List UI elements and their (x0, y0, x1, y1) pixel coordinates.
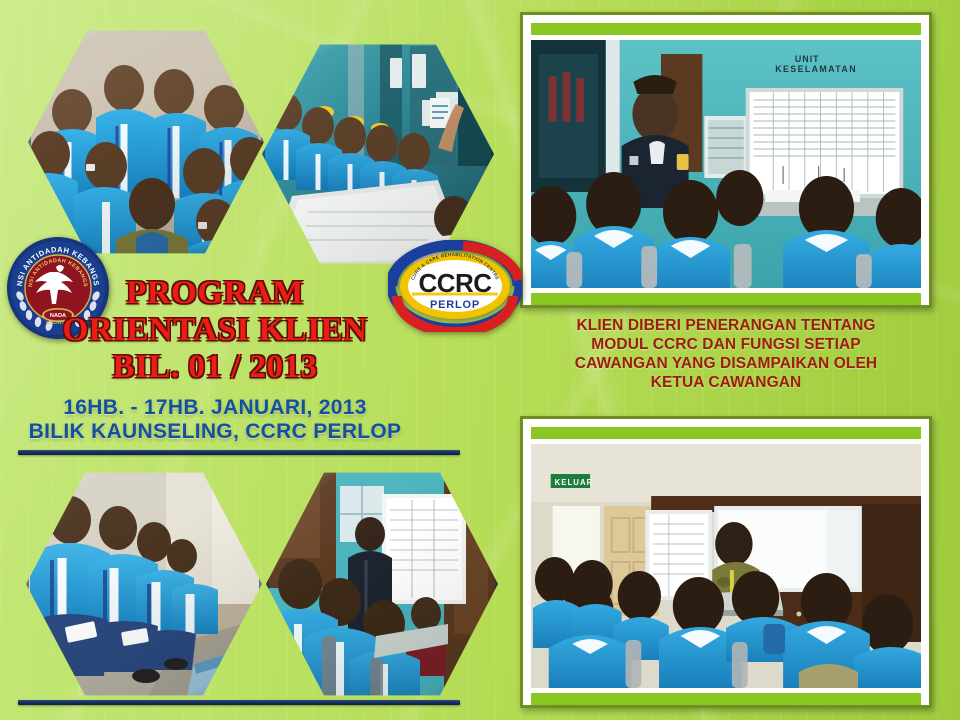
slide-canvas: UNIT KESELAMATAN (0, 0, 960, 720)
svg-text:UNIT: UNIT (795, 54, 820, 64)
photo-framed-officer-presenting[interactable]: UNIT KESELAMATAN (520, 12, 932, 308)
photo-hex-clients-seated-row-image (26, 468, 262, 700)
photo-framed-officer-presenting-image: UNIT KESELAMATAN (531, 40, 921, 288)
divider-lower (18, 700, 460, 705)
photo-hex-counselling-room[interactable] (266, 468, 498, 700)
caption-line-2: MODUL CCRC DAN FUNGSI SETIAP (520, 335, 932, 354)
frame-bottom-bar-1 (531, 293, 921, 305)
ccrc-sub-text: PERLOP (430, 299, 480, 311)
divider-upper (18, 450, 460, 455)
svg-text:KELUAR: KELUAR (555, 478, 594, 487)
frame-top-bar-2 (531, 427, 921, 439)
right-caption-block: KLIEN DIBERI PENERANGAN TENTANG MODUL CC… (520, 316, 932, 392)
photo-hex-group-uniform[interactable] (28, 26, 264, 258)
photo-hex-briefing-whiteboard[interactable] (262, 40, 494, 268)
caption-line-4: KETUA CAWANGAN (520, 373, 932, 392)
frame-bottom-bar-2 (531, 693, 921, 705)
photo-hex-group-uniform-image (28, 26, 264, 258)
program-date-line: 16HB. - 17HB. JANUARI, 2013 (0, 396, 430, 420)
photo-framed-branch-head-talk-image: KELUAR (531, 444, 921, 688)
photo-framed-branch-head-talk[interactable]: KELUAR (520, 416, 932, 708)
program-venue-line: BILIK KAUNSELING, CCRC PERLOP (0, 420, 430, 444)
frame-top-bar-1 (531, 23, 921, 35)
program-title-line-3: BIL. 01 / 2013 (0, 349, 430, 386)
photo-hex-briefing-whiteboard-image (262, 40, 494, 268)
caption-line-3: CAWANGAN YANG DISAMPAIKAN OLEH (520, 354, 932, 373)
caption-line-1: KLIEN DIBERI PENERANGAN TENTANG (520, 316, 932, 335)
program-title-line-1: PROGRAM (0, 275, 430, 312)
svg-text:KESELAMATAN: KESELAMATAN (775, 64, 857, 74)
photo-hex-counselling-room-image (266, 468, 498, 700)
program-title-line-2: ORIENTASI KLIEN (0, 312, 430, 349)
photo-hex-clients-seated-row[interactable] (26, 468, 262, 700)
